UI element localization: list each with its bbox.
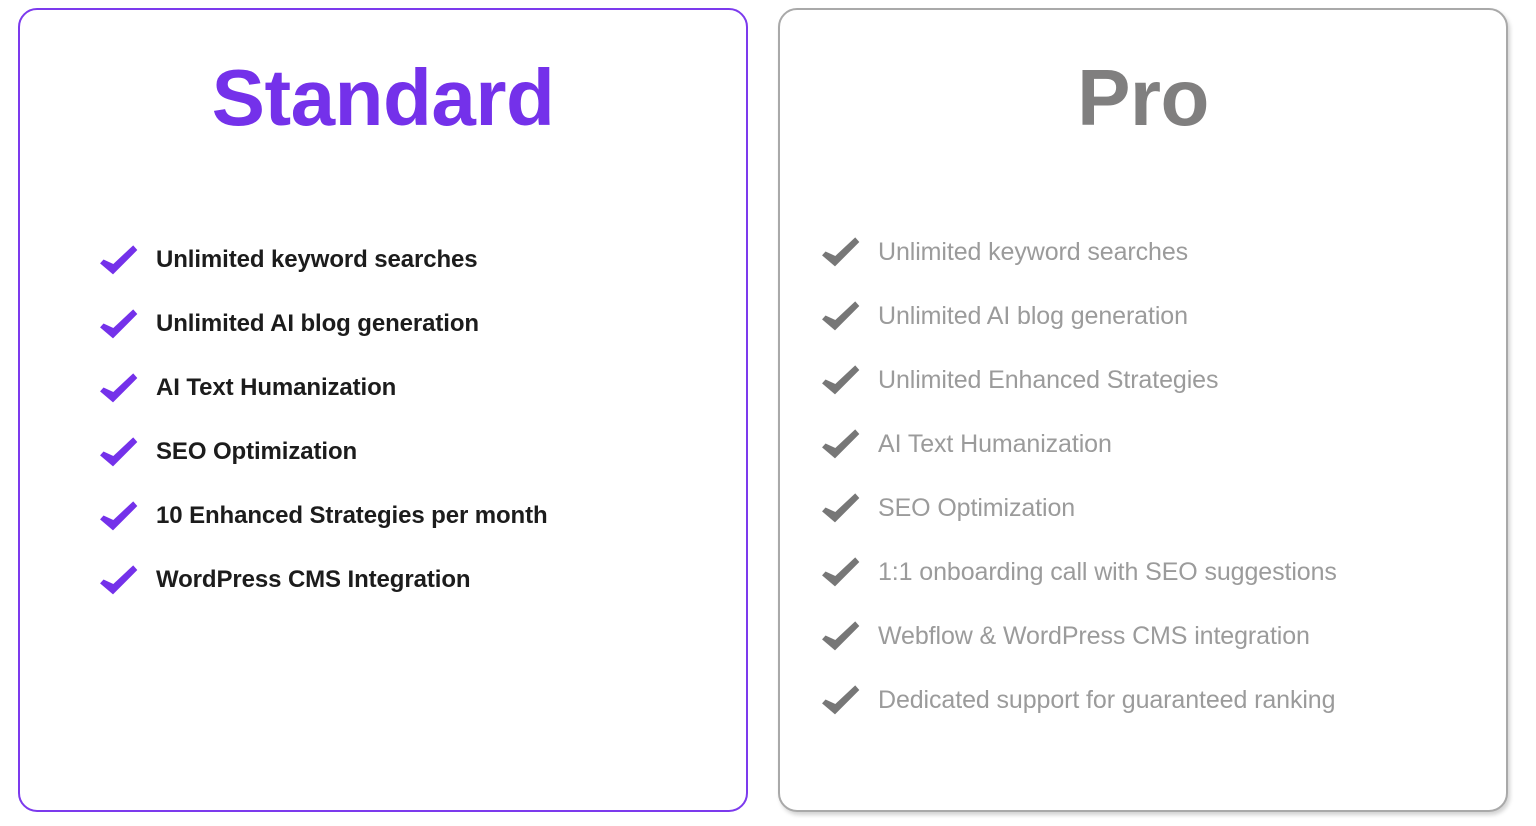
feature-label: 10 Enhanced Strategies per month <box>156 502 548 530</box>
pricing-comparison: Standard Unlimited keyword searches Unli… <box>0 0 1536 826</box>
feature-list-pro: Unlimited keyword searches Unlimited AI … <box>780 220 1506 732</box>
plan-title-standard: Standard <box>20 10 746 138</box>
plan-card-standard[interactable]: Standard Unlimited keyword searches Unli… <box>18 8 748 812</box>
list-item: Unlimited AI blog generation <box>100 292 746 356</box>
feature-label: AI Text Humanization <box>156 374 396 402</box>
list-item: AI Text Humanization <box>100 356 746 420</box>
feature-label: Dedicated support for guaranteed ranking <box>878 686 1335 715</box>
plan-title-pro: Pro <box>780 10 1506 138</box>
check-icon <box>100 245 138 275</box>
list-item: SEO Optimization <box>822 476 1506 540</box>
check-icon <box>100 309 138 339</box>
feature-label: WordPress CMS Integration <box>156 566 470 594</box>
feature-label: Unlimited keyword searches <box>156 246 478 274</box>
list-item: Unlimited keyword searches <box>822 220 1506 284</box>
feature-label: Unlimited keyword searches <box>878 238 1188 267</box>
list-item: 1:1 onboarding call with SEO suggestions <box>822 540 1506 604</box>
check-icon <box>822 429 860 459</box>
list-item: Unlimited keyword searches <box>100 228 746 292</box>
check-icon <box>822 301 860 331</box>
check-icon <box>822 237 860 267</box>
feature-label: SEO Optimization <box>156 438 357 466</box>
list-item: 10 Enhanced Strategies per month <box>100 484 746 548</box>
check-icon <box>822 557 860 587</box>
list-item: WordPress CMS Integration <box>100 548 746 612</box>
list-item: SEO Optimization <box>100 420 746 484</box>
feature-list-standard: Unlimited keyword searches Unlimited AI … <box>20 228 746 612</box>
list-item: AI Text Humanization <box>822 412 1506 476</box>
list-item: Webflow & WordPress CMS integration <box>822 604 1506 668</box>
list-item: Unlimited Enhanced Strategies <box>822 348 1506 412</box>
check-icon <box>822 493 860 523</box>
check-icon <box>822 685 860 715</box>
check-icon <box>100 565 138 595</box>
plan-card-pro[interactable]: Pro Unlimited keyword searches Unlimited… <box>778 8 1508 812</box>
feature-label: Webflow & WordPress CMS integration <box>878 622 1310 651</box>
check-icon <box>822 621 860 651</box>
feature-label: SEO Optimization <box>878 494 1075 523</box>
feature-label: AI Text Humanization <box>878 430 1112 459</box>
list-item: Dedicated support for guaranteed ranking <box>822 668 1506 732</box>
feature-label: 1:1 onboarding call with SEO suggestions <box>878 558 1337 587</box>
feature-label: Unlimited AI blog generation <box>878 302 1188 331</box>
check-icon <box>822 365 860 395</box>
list-item: Unlimited AI blog generation <box>822 284 1506 348</box>
check-icon <box>100 501 138 531</box>
feature-label: Unlimited AI blog generation <box>156 310 479 338</box>
check-icon <box>100 373 138 403</box>
check-icon <box>100 437 138 467</box>
feature-label: Unlimited Enhanced Strategies <box>878 366 1218 395</box>
